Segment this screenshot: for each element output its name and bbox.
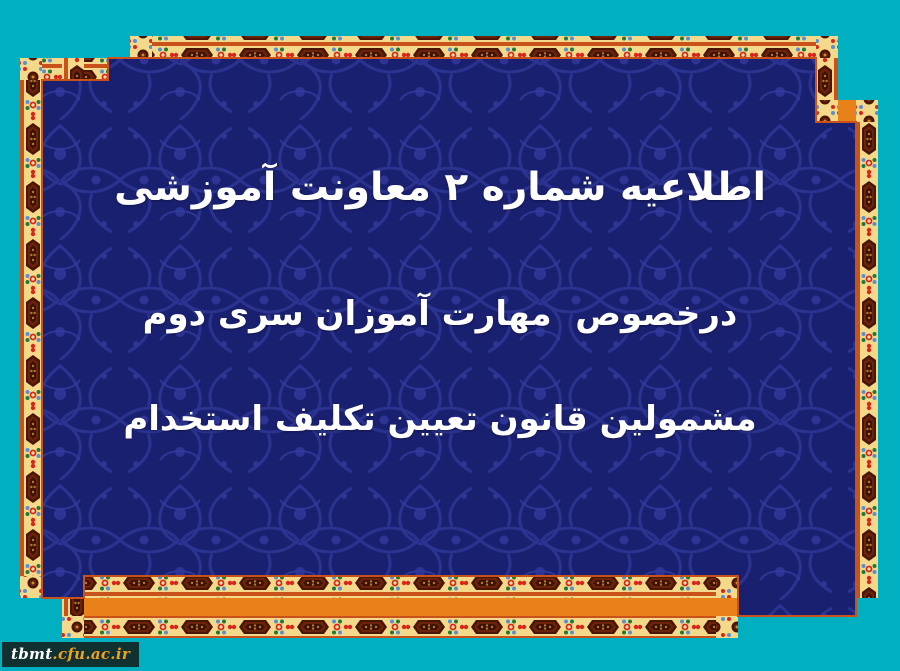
plaque-field <box>42 58 856 616</box>
ornate-plaque <box>0 0 900 671</box>
site-watermark: tbmt.cfu.ac.ir <box>2 642 139 667</box>
watermark-secondary: .cfu.ac.ir <box>52 645 130 663</box>
announcement-poster: اطلاعیه شماره ۲ معاونت آموزشی درخصوص مها… <box>0 0 900 671</box>
watermark-primary: tbmt <box>11 645 52 663</box>
plaque-svg <box>0 0 900 671</box>
